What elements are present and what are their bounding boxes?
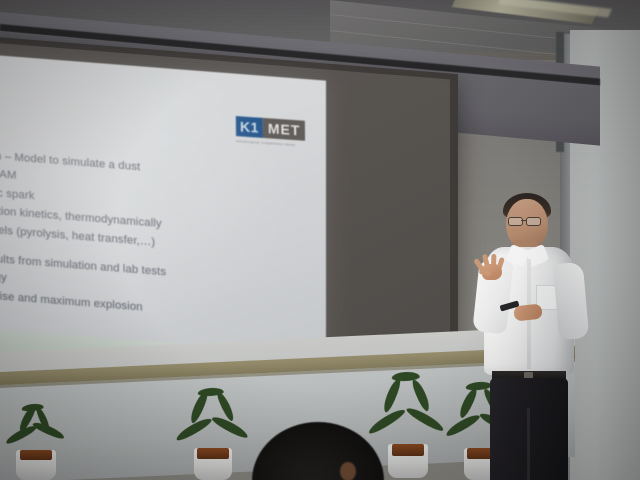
- presenter-gesturing-hand: [478, 255, 504, 281]
- potted-plant: [10, 392, 62, 480]
- trouser-leg-seam: [527, 408, 530, 480]
- projected-slide: K1 MET metallurgical competence center d…: [0, 52, 326, 381]
- plant-pot: [16, 450, 56, 480]
- logo-k1-mark: K1: [236, 116, 263, 138]
- glasses-bridge: [521, 220, 526, 221]
- k1met-logo: K1 MET metallurgical competence center: [236, 116, 316, 151]
- plant-pot: [194, 448, 232, 480]
- presenter-right-arm: [553, 262, 590, 340]
- plant-pot: [388, 444, 428, 478]
- audience-member-ear: [340, 462, 356, 480]
- presenter: [470, 193, 595, 480]
- photo-scene: K1 MET metallurgical competence center d…: [0, 0, 640, 480]
- glasses-left-lens: [508, 217, 523, 226]
- potted-plant: [182, 382, 244, 480]
- potted-plant: [374, 368, 440, 480]
- logo-met-mark: MET: [263, 118, 306, 141]
- slide-content: K1 MET metallurgical competence center d…: [0, 52, 326, 381]
- glasses-right-lens: [526, 217, 541, 226]
